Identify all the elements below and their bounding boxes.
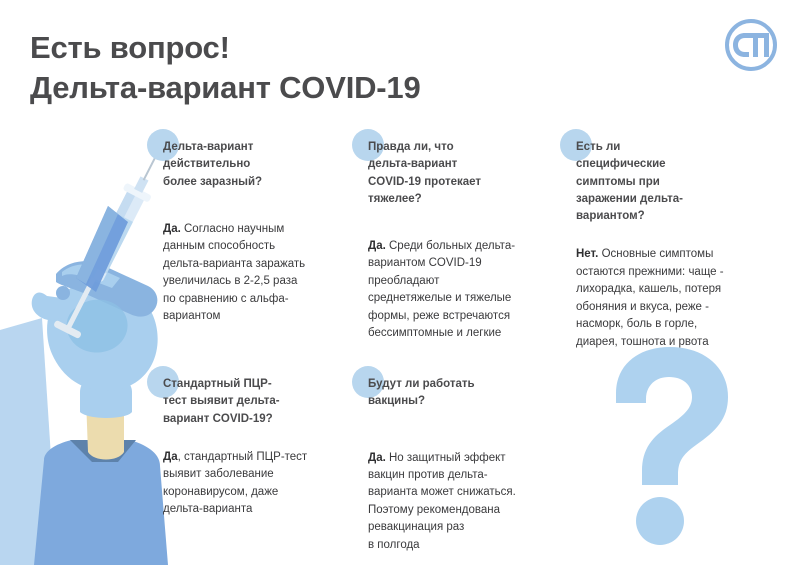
qa-block-4: Стандартный ПЦР- тест выявит дельта- вар… bbox=[163, 376, 343, 519]
qa-block-3: Есть ли специфические симптомы при зараж… bbox=[576, 139, 766, 351]
answer-body-3: Основные симптомы остаются прежними: чащ… bbox=[576, 248, 724, 347]
question-text-1: Дельта-вариант действительно более зараз… bbox=[163, 139, 343, 191]
title-line-2: Дельта-вариант COVID-19 bbox=[30, 68, 650, 108]
question-text-5: Будут ли работать вакцины? bbox=[368, 376, 553, 411]
page-title: Есть вопрос! Дельта-вариант COVID-19 bbox=[30, 28, 650, 107]
answer-text-2: Да. Среди больных дельта- вариантом COVI… bbox=[368, 238, 553, 343]
answer-body-1: Согласно научным данным способность дель… bbox=[163, 223, 305, 322]
answer-lead-2: Да. bbox=[368, 240, 386, 252]
answer-body-2: Среди больных дельта- вариантом COVID-19… bbox=[368, 240, 515, 339]
question-wrap-3: Есть ли специфические симптомы при зараж… bbox=[576, 139, 766, 225]
answer-body-4: , стандартный ПЦР-тест выявит заболевани… bbox=[163, 451, 307, 515]
answer-lead-3: Нет. bbox=[576, 248, 598, 260]
question-wrap-5: Будут ли работать вакцины? bbox=[368, 376, 553, 411]
question-text-4: Стандартный ПЦР- тест выявит дельта- вар… bbox=[163, 376, 343, 428]
question-wrap-2: Правда ли, что дельта-вариант COVID-19 п… bbox=[368, 139, 553, 208]
question-text-3: Есть ли специфические симптомы при зараж… bbox=[576, 139, 766, 225]
answer-text-5: Да. Но защитный эффект вакцин против дел… bbox=[368, 450, 553, 555]
infographic-poster: Есть вопрос! Дельта-вариант COVID-19 Дел… bbox=[0, 0, 800, 565]
answer-lead-4: Да bbox=[163, 451, 178, 463]
qa-block-1: Дельта-вариант действительно более зараз… bbox=[163, 139, 343, 326]
answer-text-4: Да, стандартный ПЦР-тест выявит заболева… bbox=[163, 449, 343, 519]
question-wrap-1: Дельта-вариант действительно более зараз… bbox=[163, 139, 343, 191]
question-wrap-4: Стандартный ПЦР- тест выявит дельта- вар… bbox=[163, 376, 343, 428]
question-text-2: Правда ли, что дельта-вариант COVID-19 п… bbox=[368, 139, 553, 208]
large-question-mark-icon bbox=[586, 345, 761, 545]
answer-lead-1: Да. bbox=[163, 223, 181, 235]
title-line-1: Есть вопрос! bbox=[30, 28, 650, 68]
answer-lead-5: Да. bbox=[368, 452, 386, 464]
answer-body-5: Но защитный эффект вакцин против дельта-… bbox=[368, 452, 516, 551]
answer-text-1: Да. Согласно научным данным способность … bbox=[163, 221, 343, 326]
qa-block-5: Будут ли работать вакцины? Да. Но защитн… bbox=[368, 376, 553, 554]
clinic-monogram-logo bbox=[724, 18, 778, 72]
qa-block-2: Правда ли, что дельта-вариант COVID-19 п… bbox=[368, 139, 553, 343]
answer-text-3: Нет. Основные симптомы остаются прежними… bbox=[576, 246, 766, 351]
